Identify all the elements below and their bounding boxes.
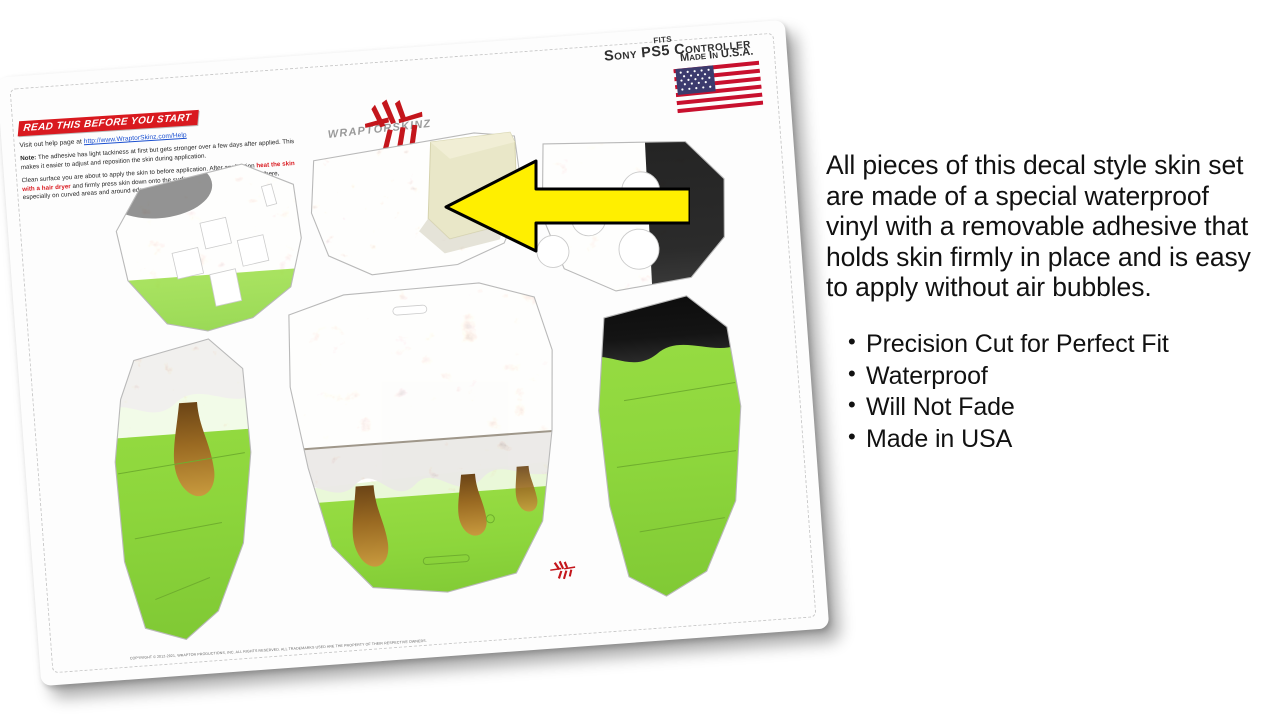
left-pointing-arrow-icon <box>440 155 690 255</box>
feature-bullet: Will Not Fade <box>848 392 1266 424</box>
feature-bullet: Waterproof <box>848 361 1266 393</box>
feature-bullet: Made in USA <box>848 424 1266 456</box>
wraptorskinz-mark-icon <box>542 558 581 581</box>
feature-bullet: Precision Cut for Perfect Fit <box>848 329 1266 361</box>
product-image: FITS Sony PS5 Controller Made In U.S.A. <box>0 0 1280 715</box>
marketing-paragraph: All pieces of this decal style skin set … <box>826 150 1266 303</box>
note-label: Note: <box>20 154 36 162</box>
skin-piece-body <box>264 259 588 620</box>
marketing-copy: All pieces of this decal style skin set … <box>826 150 1266 456</box>
feature-bullet-list: Precision Cut for Perfect Fit Waterproof… <box>826 329 1266 456</box>
skin-sheet: FITS Sony PS5 Controller Made In U.S.A. <box>0 20 829 686</box>
skin-piece-right-grip <box>576 275 770 617</box>
skin-piece-left-grip <box>97 317 280 652</box>
